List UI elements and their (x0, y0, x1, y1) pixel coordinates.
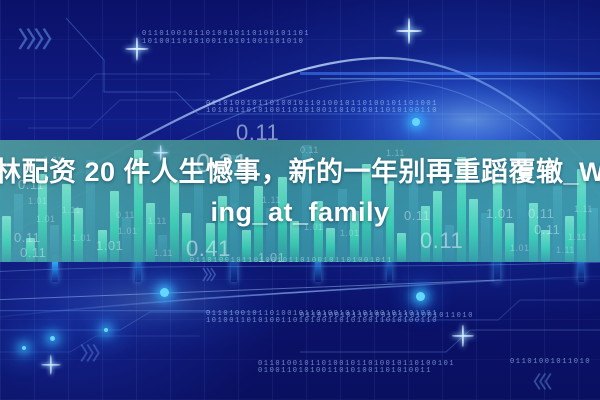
binary-strip: 01101001011010010110100101101001011 (190, 257, 393, 265)
ghost-number: 1.11 (386, 148, 405, 158)
ghost-number: 1.01 (96, 238, 123, 253)
ghost-number: 1.11 (574, 204, 593, 214)
chevron-icon: 〉〉〉 (202, 265, 221, 285)
ghost-number: 0.11 (14, 230, 40, 245)
ghost-number: 0.11 (404, 208, 430, 223)
binary-strip: 01101001011010 (510, 358, 591, 366)
ghost-number: 1.11 (556, 245, 575, 255)
banner-image: 0.110.210.111.011.111.010.110.111.011.01… (0, 0, 600, 400)
ghost-number: 1.11 (568, 232, 587, 242)
binary-strip: 011010010110100101101001011010 (300, 312, 474, 320)
ghost-number: 0.11 (528, 206, 554, 221)
chevron-icon: 〈〈〈 (524, 368, 549, 393)
ghost-number: 1.01 (510, 243, 530, 253)
glow-dot (104, 328, 108, 332)
ghost-number: 1.01 (36, 214, 56, 224)
ghost-number: 0.11 (116, 210, 135, 220)
glow-dot (22, 346, 26, 350)
glow-dot (50, 336, 55, 341)
ghost-number: 1.11 (44, 155, 63, 165)
ghost-number: 0.11 (300, 145, 319, 155)
ghost-number: 0.11 (534, 222, 560, 237)
chevron-icon: 〉〉〉 (80, 340, 107, 366)
ghost-number: 0.11 (20, 245, 46, 260)
ghost-number: 1.01 (118, 226, 138, 236)
sparkle-icon (408, 30, 409, 31)
glow-dot (160, 288, 169, 297)
ghost-number: 1.01 (486, 206, 513, 221)
ghost-number: 0.21 (196, 148, 249, 179)
sparkle-icon (50, 364, 51, 365)
binary-strip: 1010011010100110101001101010 (142, 38, 304, 46)
ghost-number: 1.11 (262, 195, 281, 205)
binary-strip: 01101001011010010110100101101 (142, 30, 310, 38)
binary-strip: 010011010100110101001101010011 (258, 367, 432, 375)
ghost-number: 0.11 (420, 228, 463, 254)
ghost-number: 1.01 (72, 233, 92, 243)
binary-strip: 1010011010100110101001101010011010100110 (206, 107, 438, 115)
ghost-number: 1.11 (148, 216, 167, 226)
sparkle-icon (160, 152, 161, 153)
sparkle-icon (462, 335, 463, 336)
decoration-layer: 0.110.210.111.011.111.010.110.111.011.01… (0, 0, 600, 400)
ghost-number: 1.01 (28, 196, 48, 206)
chevron-icon: 〉〉〉〉 (18, 22, 61, 54)
glow-dot (416, 292, 425, 301)
ghost-number: 1.11 (154, 248, 173, 258)
ghost-number: 1.01 (340, 228, 360, 238)
ghost-number: 0.11 (236, 120, 279, 146)
glow-dot (412, 118, 420, 126)
sparkle-icon (136, 48, 137, 49)
ghost-number: 1.11 (62, 205, 81, 215)
ghost-number: 1.01 (304, 222, 324, 232)
ghost-number: 0.11 (18, 177, 44, 192)
